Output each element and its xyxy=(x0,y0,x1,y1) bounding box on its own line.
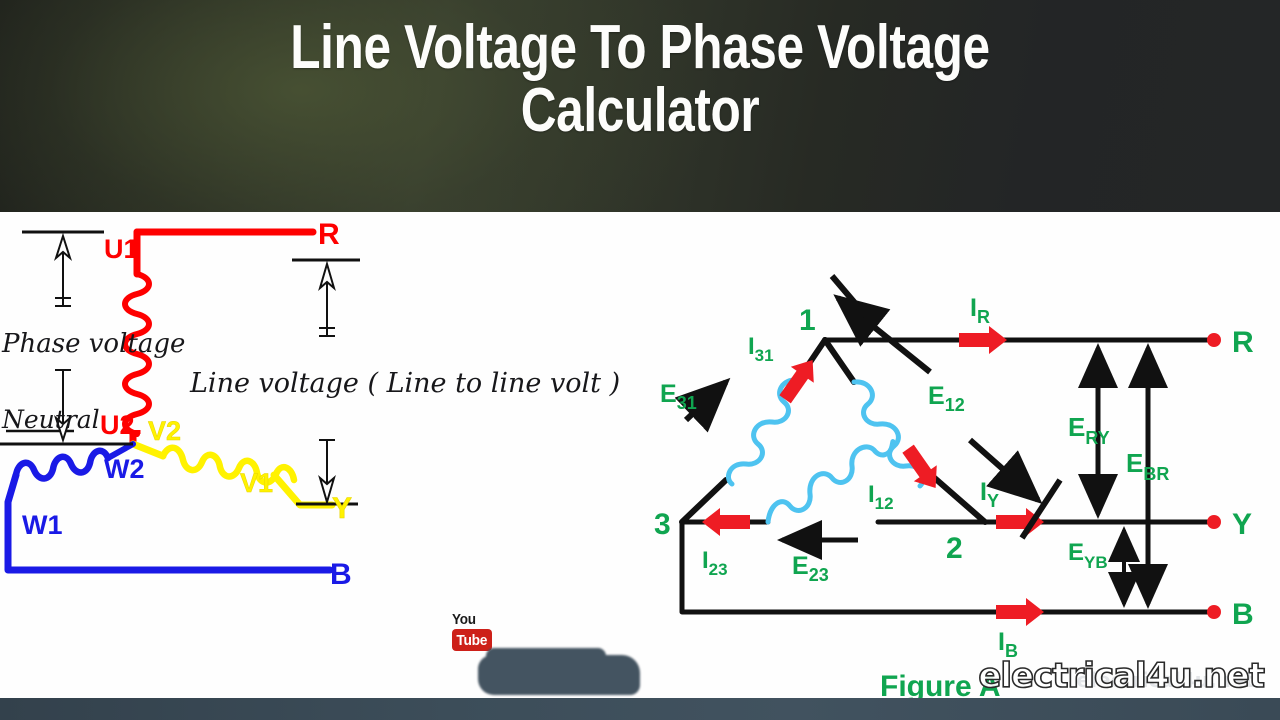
screenshot-root: Line Voltage To Phase Voltage Calculator xyxy=(0,0,1280,720)
youtube-tube-badge: Tube xyxy=(452,629,492,651)
delta-connection-svg: 1 2 3 I31 I12 I23 E31 E12 E23 IR IY IB E… xyxy=(640,212,1280,698)
terminal-label-R: R xyxy=(1232,326,1254,359)
label-E31: E31 xyxy=(660,380,697,413)
arrow-IB-body xyxy=(996,605,1028,619)
label-V2: V2 xyxy=(148,416,181,446)
arrow-IR-head xyxy=(989,326,1007,354)
label-I12: I12 xyxy=(868,481,894,513)
label-I31: I31 xyxy=(748,333,774,365)
label-U2: U2 xyxy=(100,410,135,440)
phase-voltage-label: Phase voltage xyxy=(1,329,185,359)
terminal-label-Y: Y xyxy=(1232,508,1252,541)
arrow-I23-body xyxy=(718,515,750,529)
arrow-E12-upper xyxy=(838,298,930,372)
left-diagram-panel: Phase voltage Neutral Line voltage ( Lin… xyxy=(0,212,640,698)
label-EYB: EYB xyxy=(1068,539,1108,572)
figure-caption: Figure A xyxy=(880,670,1001,698)
redaction-smudge xyxy=(478,655,640,695)
wire-1-to-coil12 xyxy=(825,340,854,382)
label-W1: W1 xyxy=(22,510,63,540)
arrow-IY-body xyxy=(996,515,1028,529)
label-W2: W2 xyxy=(104,454,145,484)
terminal-B: B xyxy=(330,558,352,591)
label-ERY: ERY xyxy=(1068,412,1110,448)
star-connection-svg: Phase voltage Neutral Line voltage ( Lin… xyxy=(0,212,640,698)
yellow-phase-group xyxy=(133,444,332,505)
youtube-tube-text: Tube xyxy=(457,632,488,649)
terminal-dot-R xyxy=(1207,333,1221,347)
page-title: Line Voltage To Phase Voltage Calculator xyxy=(128,16,1152,142)
blue-phase-group xyxy=(8,444,330,570)
label-I23: I23 xyxy=(702,547,728,579)
node-1-label: 1 xyxy=(799,304,816,337)
label-E12: E12 xyxy=(928,382,965,415)
coil-12 xyxy=(854,382,924,486)
terminal-dot-Y xyxy=(1207,515,1221,529)
header-banner: Line Voltage To Phase Voltage Calculator xyxy=(0,0,1280,212)
wire-coil12-to-2 xyxy=(930,474,985,522)
youtube-you-text: You xyxy=(452,612,490,628)
terminal-dot-B xyxy=(1207,605,1221,619)
label-E23: E23 xyxy=(792,552,829,585)
terminal-Y: Y xyxy=(332,492,352,525)
right-diagram-panel: 1 2 3 I31 I12 I23 E31 E12 E23 IR IY IB E… xyxy=(640,212,1280,698)
arrow-IR-body xyxy=(959,333,991,347)
label-IR: IR xyxy=(970,294,990,327)
delta-triangle-wires xyxy=(682,340,985,522)
watermark-ghost-text: electrical4u.net xyxy=(1077,668,1254,692)
label-U1: U1 xyxy=(104,234,139,264)
neutral-label: Neutral xyxy=(1,405,100,434)
bottom-strip xyxy=(0,698,1280,720)
terminal-label-B: B xyxy=(1232,598,1254,631)
node-2-label: 2 xyxy=(946,532,963,565)
terminal-R: R xyxy=(318,218,340,251)
label-V1: V1 xyxy=(240,468,273,498)
label-IB: IB xyxy=(998,628,1018,661)
arrow-I23-head xyxy=(702,508,720,536)
current-arrows xyxy=(702,326,1044,626)
arrow-IB-head xyxy=(1026,598,1044,626)
blue-coil-winding xyxy=(16,451,108,479)
line-voltage-label: Line voltage ( Line to line volt ) xyxy=(189,368,620,399)
node-3-label: 3 xyxy=(654,508,671,541)
label-IY: IY xyxy=(980,478,999,511)
